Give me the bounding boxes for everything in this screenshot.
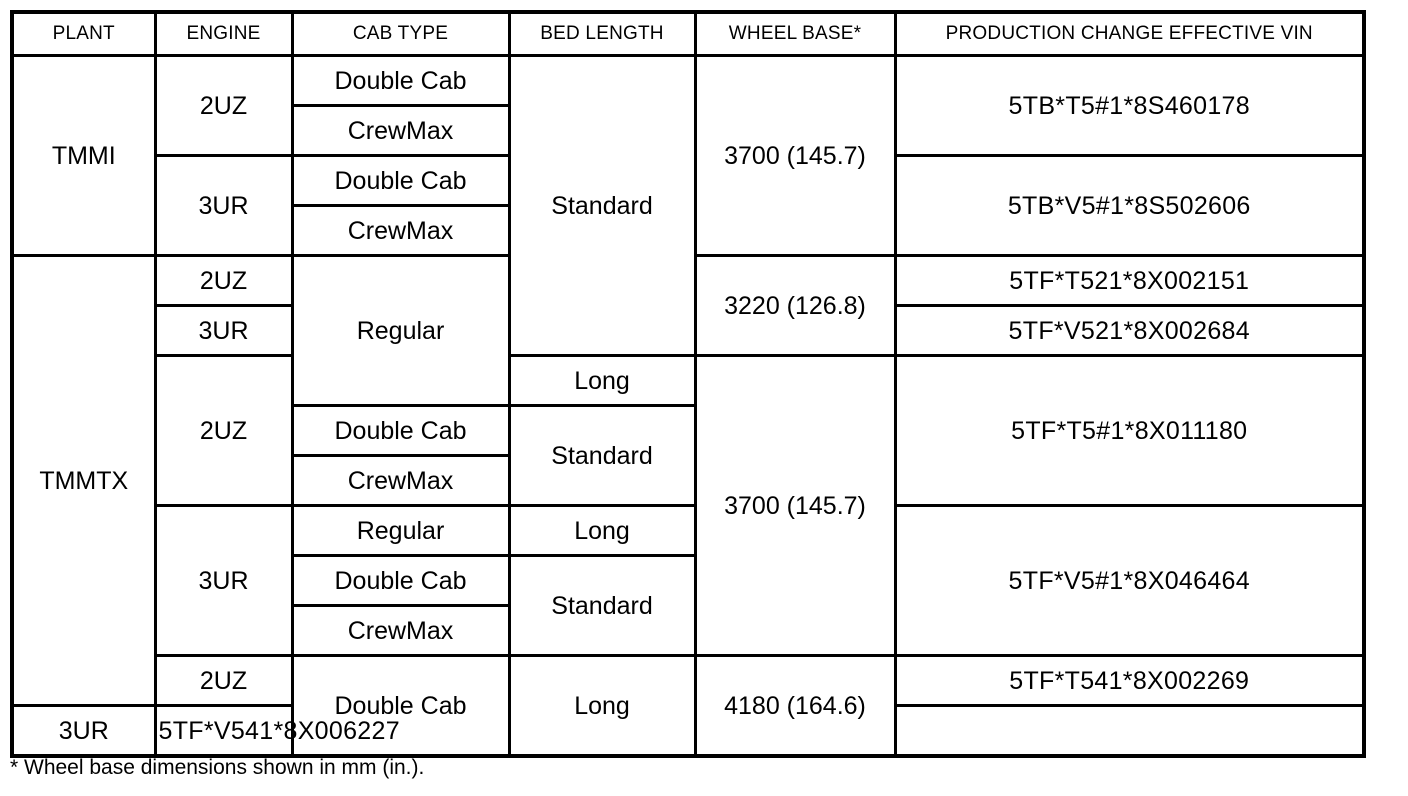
page-root: PLANT ENGINE CAB TYPE BED LENGTH WHEEL B… [0,0,1408,796]
column-header-plant: PLANT [12,12,155,56]
cell-vin-2: 5TB*V5#1*8S502606 [895,156,1364,256]
column-header-bed-length: BED LENGTH [509,12,695,56]
cell-engine-2: 3UR [155,156,292,256]
table-header-row: PLANT ENGINE CAB TYPE BED LENGTH WHEEL B… [12,12,1364,56]
column-header-wheel-base: WHEEL BASE* [695,12,895,56]
cell-engine-4: 3UR [155,306,292,356]
column-header-cab-type: CAB TYPE [292,12,509,56]
cell-plant-tmmtx: TMMTX [12,256,155,706]
cell-cab-10: CrewMax [292,606,509,656]
cell-wheelbase-2: 3220 (126.8) [695,256,895,356]
cell-bed-3: Standard [509,406,695,506]
cell-vin-7: 5TF*T541*8X002269 [895,656,1364,706]
cell-cab-6: Double Cab [292,406,509,456]
cell-vin-3: 5TF*T521*8X002151 [895,256,1364,306]
cell-cab-8: Regular [292,506,509,556]
table-row: 2UZ Double Cab Long 4180 (164.6) 5TF*T54… [12,656,1364,706]
cell-bed-5: Standard [509,556,695,656]
cell-bed-6: Long [509,656,695,757]
table-row: 2UZ Long 3700 (145.7) 5TF*T5#1*8X011180 [12,356,1364,406]
cell-cab-1: Double Cab [292,56,509,106]
cell-bed-1: Standard [509,56,695,356]
cell-vin-6: 5TF*V5#1*8X046464 [895,506,1364,656]
cell-engine-1: 2UZ [155,56,292,156]
cell-engine-5: 2UZ [155,356,292,506]
cell-wheelbase-4: 4180 (164.6) [695,656,895,757]
production-change-table: PLANT ENGINE CAB TYPE BED LENGTH WHEEL B… [10,10,1366,758]
cell-cab-7: CrewMax [292,456,509,506]
cell-cab-5: Regular [292,256,509,406]
cell-vin-4: 5TF*V521*8X002684 [895,306,1364,356]
footnote-wheel-base: * Wheel base dimensions shown in mm (in.… [10,755,424,781]
column-header-engine: ENGINE [155,12,292,56]
cell-cab-4: CrewMax [292,206,509,256]
cell-vin-8: 5TF*V541*8X006227 [155,706,292,757]
column-header-production-change-vin: PRODUCTION CHANGE EFFECTIVE VIN [895,12,1364,56]
cell-cab-2: CrewMax [292,106,509,156]
cell-cab-3: Double Cab [292,156,509,206]
cell-cab-9: Double Cab [292,556,509,606]
cell-engine-7: 2UZ [155,656,292,706]
cell-wheelbase-3: 3700 (145.7) [695,356,895,656]
cell-wheelbase-1: 3700 (145.7) [695,56,895,256]
cell-engine-8: 3UR [12,706,155,757]
cell-vin-5: 5TF*T5#1*8X011180 [895,356,1364,506]
cell-engine-6: 3UR [155,506,292,656]
cell-vin-1: 5TB*T5#1*8S460178 [895,56,1364,156]
cell-engine-3: 2UZ [155,256,292,306]
cell-bed-2: Long [509,356,695,406]
table-row: 3UR Regular Long 5TF*V5#1*8X046464 [12,506,1364,556]
table-row: TMMI 2UZ Double Cab Standard 3700 (145.7… [12,56,1364,106]
cell-bed-4: Long [509,506,695,556]
cell-plant-tmmi: TMMI [12,56,155,256]
